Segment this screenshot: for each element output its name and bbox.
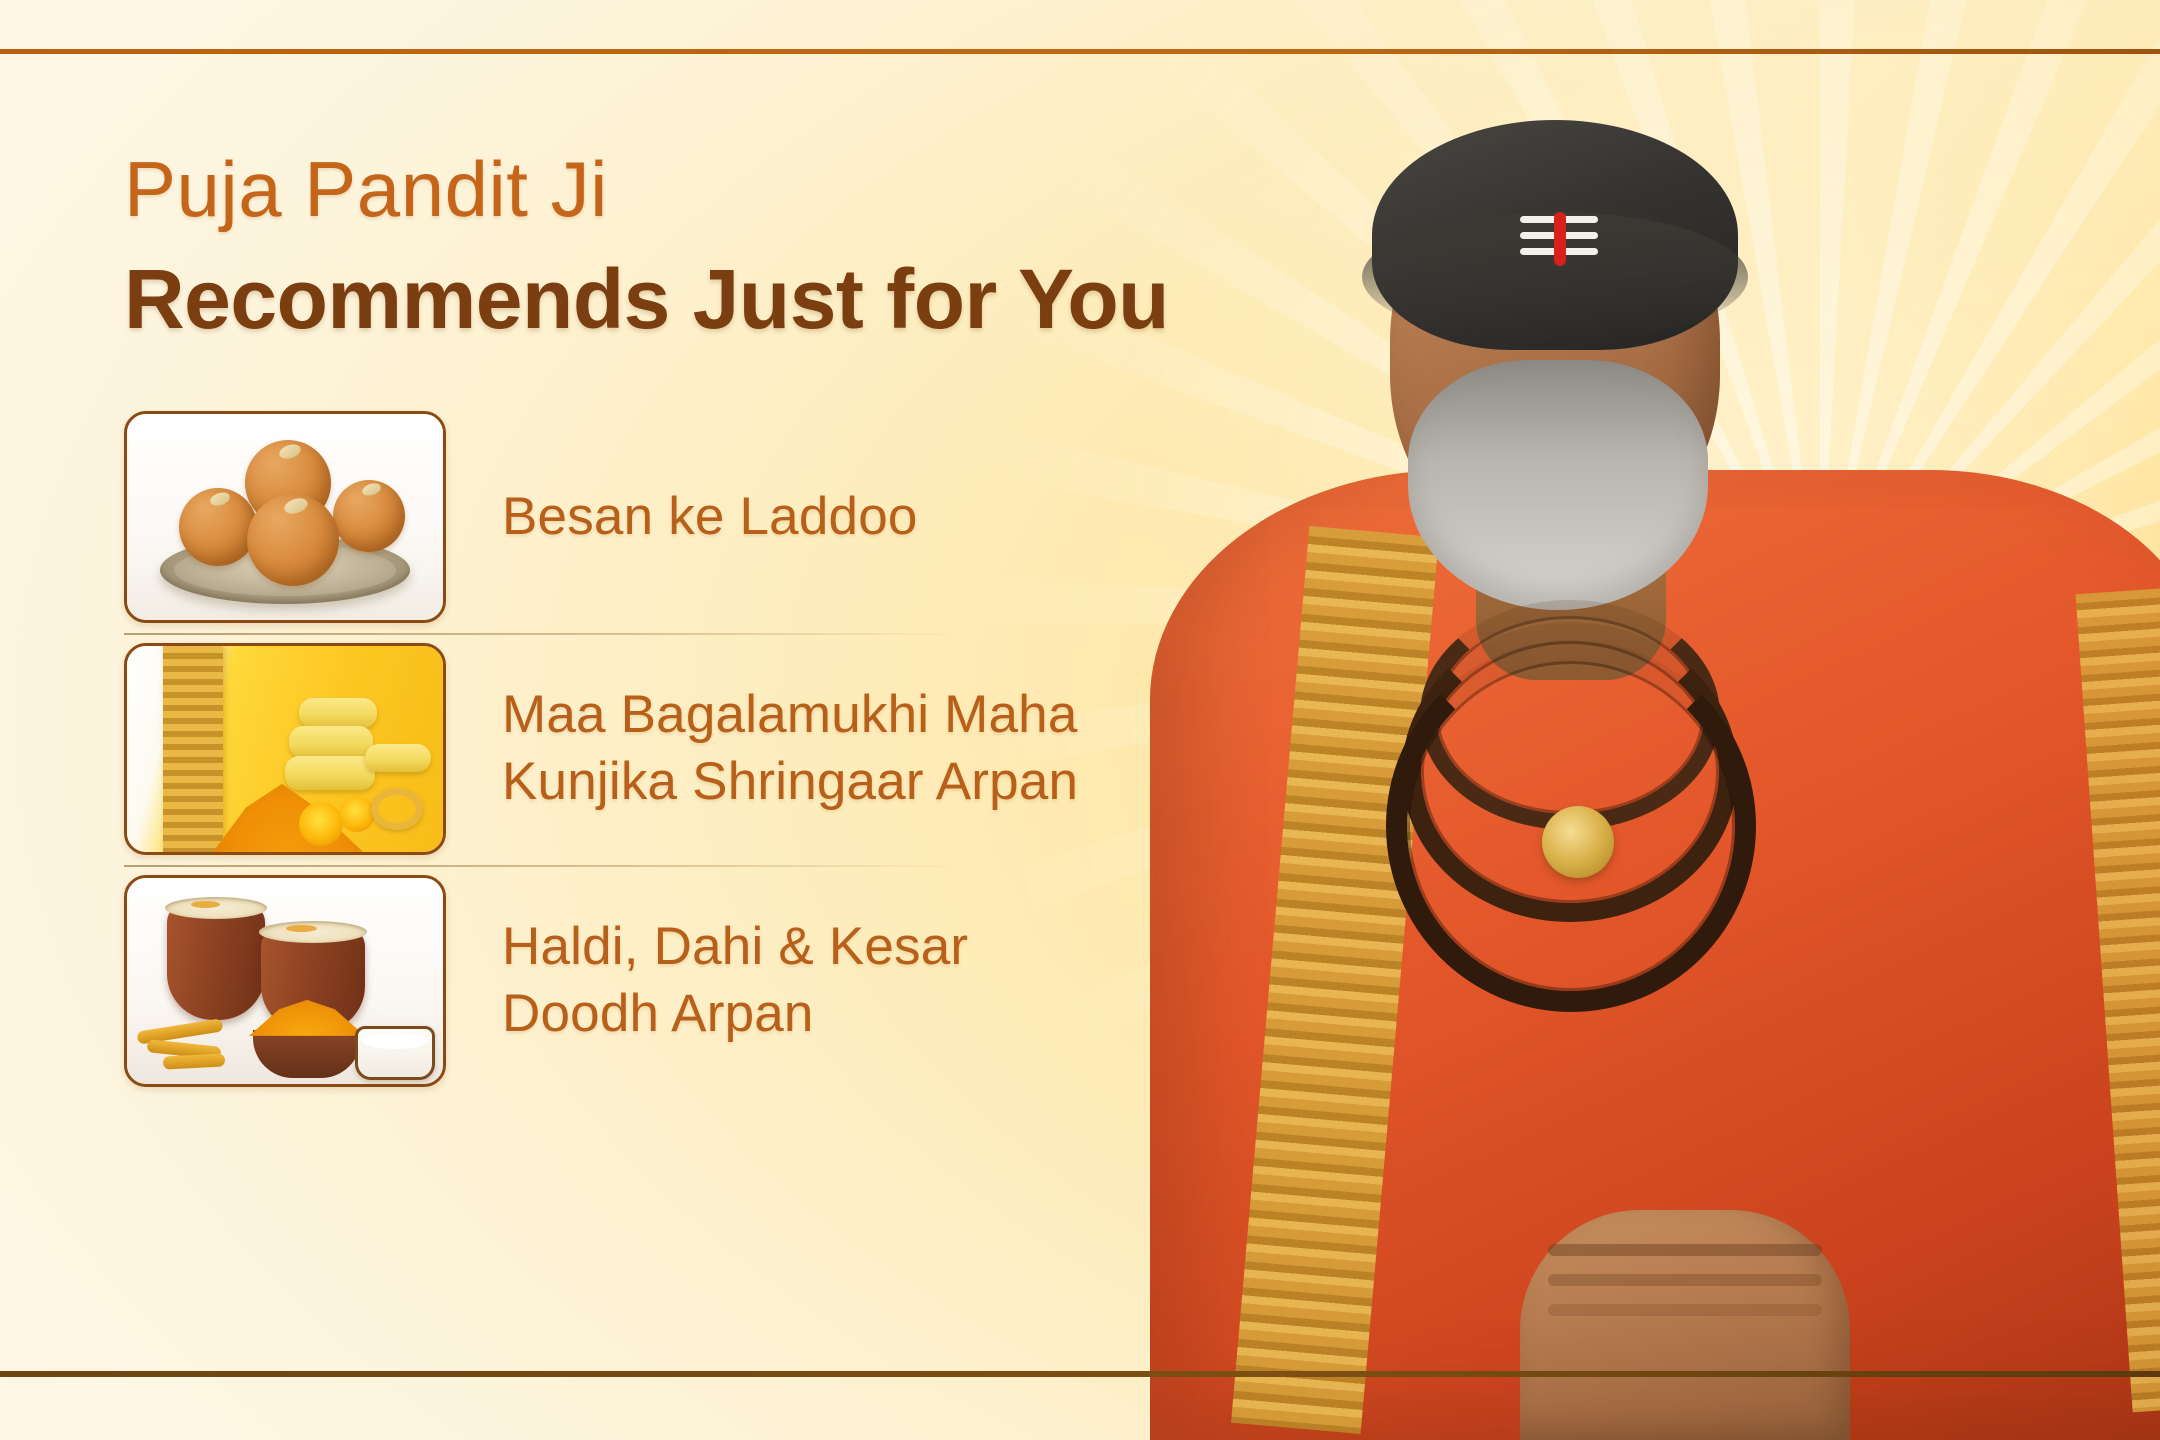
tripundra-tilak-icon (1520, 212, 1598, 272)
recommendation-thumbnail[interactable] (124, 643, 446, 855)
recommendation-list: Besan ke Laddoo Maa (124, 401, 1134, 1097)
list-item[interactable]: Besan ke Laddoo (124, 401, 1134, 633)
content-column: Puja Pandit Ji Recommends Just for You B… (0, 0, 1210, 1440)
folded-hands (1520, 1210, 1850, 1440)
recommendation-label: Haldi, Dahi & Kesar Doodh Arpan (502, 914, 1134, 1048)
kesar-doodh-kulhad-icon (127, 878, 443, 1084)
kicker-title: Puja Pandit Ji (124, 150, 1210, 230)
recommendation-label: Maa Bagalamukhi Maha Kunjika Shringaar A… (502, 682, 1134, 816)
puja-recommendation-banner: Puja Pandit Ji Recommends Just for You B… (0, 0, 2160, 1440)
besan-laddoo-icon (127, 414, 443, 620)
gold-pendant (1542, 806, 1614, 878)
bottom-divider-rule (0, 1371, 2160, 1377)
recommendation-thumbnail[interactable] (124, 875, 446, 1087)
beard (1408, 360, 1708, 610)
pandit-ji-portrait (1090, 0, 2160, 1440)
list-item[interactable]: Haldi, Dahi & Kesar Doodh Arpan (124, 865, 1134, 1097)
recommendation-label: Besan ke Laddoo (502, 484, 918, 551)
list-item[interactable]: Maa Bagalamukhi Maha Kunjika Shringaar A… (124, 633, 1134, 865)
haldi-peda-marigold-icon (127, 646, 443, 852)
recommendation-thumbnail[interactable] (124, 411, 446, 623)
page-title: Recommends Just for You (124, 256, 1210, 343)
